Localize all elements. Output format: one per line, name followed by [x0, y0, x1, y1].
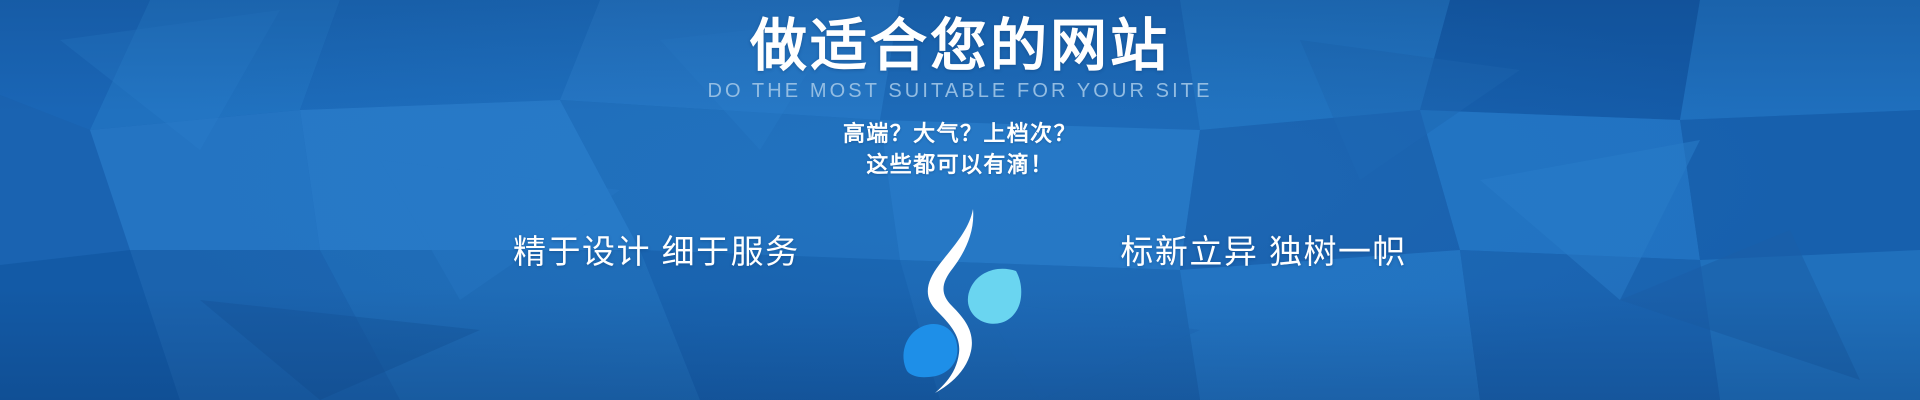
- leaf-stem-logo-icon: [895, 205, 1025, 395]
- logo-leaf-top-shape: [968, 269, 1021, 324]
- slogan-right: 标新立异 独树一帜: [1077, 205, 1407, 268]
- headline-block: 做适合您的网站 DO THE MOST SUITABLE FOR YOUR SI…: [0, 0, 1920, 180]
- slogan-row: 精于设计 细于服务 标新立异 独树一帜: [0, 205, 1920, 400]
- tagline-line-2: 这些都可以有滴！: [0, 149, 1920, 180]
- banner-content: 做适合您的网站 DO THE MOST SUITABLE FOR YOUR SI…: [0, 0, 1920, 400]
- tagline-line-1: 高端？大气？上档次？: [0, 118, 1920, 149]
- english-subtitle: DO THE MOST SUITABLE FOR YOUR SITE: [0, 78, 1920, 102]
- logo-leaf-bottom-shape: [903, 324, 957, 377]
- hero-banner: 做适合您的网站 DO THE MOST SUITABLE FOR YOUR SI…: [0, 0, 1920, 400]
- tagline-block: 高端？大气？上档次？ 这些都可以有滴！: [0, 102, 1920, 180]
- slogan-left: 精于设计 细于服务: [513, 205, 843, 268]
- page-title: 做适合您的网站: [0, 0, 1920, 78]
